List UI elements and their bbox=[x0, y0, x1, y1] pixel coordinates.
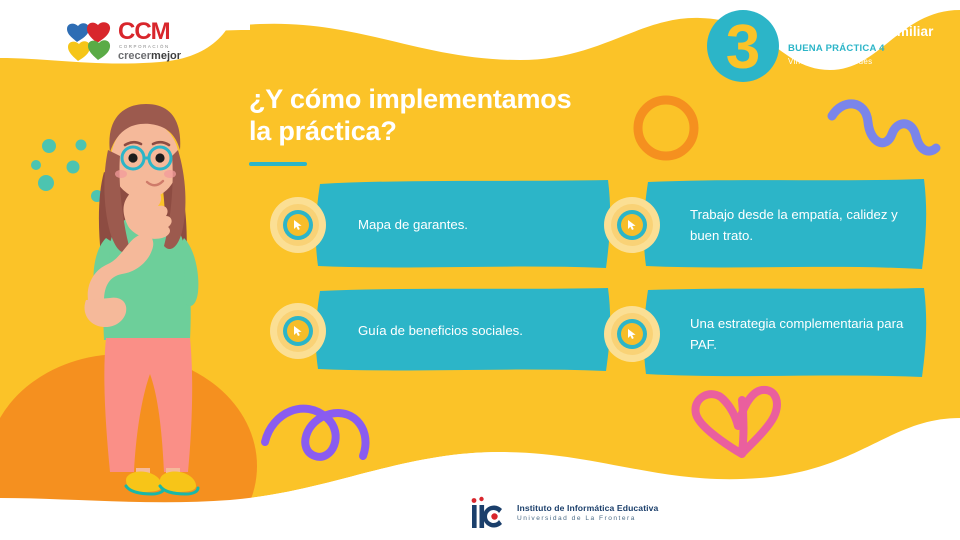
ccm-hearts-icon bbox=[66, 22, 116, 62]
title-underline bbox=[249, 162, 307, 166]
ccm-tagline-small: CORPORACIÓN bbox=[119, 44, 170, 49]
footer-institution: Instituto de Informática Educativa bbox=[517, 503, 658, 513]
header-badge: 3 Revinculación familiar BUENA PRÁCTICA … bbox=[706, 10, 952, 82]
cursor-arrow-icon bbox=[287, 214, 309, 236]
footer-logo: Instituto de Informática Educativa Unive… bbox=[466, 495, 658, 531]
badge-subtitle: BUENA PRÁCTICA 4 bbox=[788, 44, 934, 54]
badge-title: Revinculación familiar bbox=[788, 25, 934, 40]
title-line-1: ¿Y cómo implementamos bbox=[249, 84, 669, 116]
card-icon[interactable] bbox=[270, 197, 326, 253]
card-text: Trabajo desde la empatía, calidez y buen… bbox=[690, 204, 926, 247]
card-text: Mapa de garantes. bbox=[358, 214, 598, 235]
content-card[interactable]: Guía de beneficios sociales. bbox=[296, 285, 614, 377]
ccm-logo: CCM CORPORACIÓN crecermejor bbox=[66, 20, 182, 64]
content-card[interactable]: Una estrategia complementaria para PAF. bbox=[628, 285, 930, 383]
card-text: Guía de beneficios sociales. bbox=[358, 320, 598, 341]
badge-number: 3 bbox=[726, 13, 760, 82]
page-title: ¿Y cómo implementamos la práctica? bbox=[249, 84, 669, 148]
ccm-tagline-a: crecer bbox=[118, 50, 151, 62]
ccm-wordmark: CCM bbox=[118, 20, 170, 44]
cursor-arrow-icon bbox=[287, 320, 309, 342]
card-icon[interactable] bbox=[270, 303, 326, 359]
content-card[interactable]: Mapa de garantes. bbox=[296, 176, 614, 274]
card-icon[interactable] bbox=[604, 306, 660, 362]
slide-canvas: CCM CORPORACIÓN crecermejor 3 Revinculac… bbox=[0, 0, 960, 540]
iie-logo-icon bbox=[466, 496, 510, 530]
card-icon[interactable] bbox=[604, 197, 660, 253]
cursor-arrow-icon bbox=[621, 214, 643, 236]
badge-caption: Vinculación con redes bbox=[788, 58, 934, 67]
title-line-2: la práctica? bbox=[249, 116, 669, 148]
content-card[interactable]: Trabajo desde la empatía, calidez y buen… bbox=[628, 176, 930, 274]
footer-university: Universidad de La Frontera bbox=[517, 515, 658, 523]
card-text: Una estrategia complementaria para PAF. bbox=[690, 313, 926, 356]
badge-number-graphic: 3 bbox=[706, 10, 780, 82]
ccm-tagline: crecermejor bbox=[118, 51, 181, 62]
title-block: ¿Y cómo implementamos la práctica? bbox=[249, 84, 669, 166]
ccm-tagline-b: mejor bbox=[151, 50, 181, 62]
cursor-arrow-icon bbox=[621, 323, 643, 345]
